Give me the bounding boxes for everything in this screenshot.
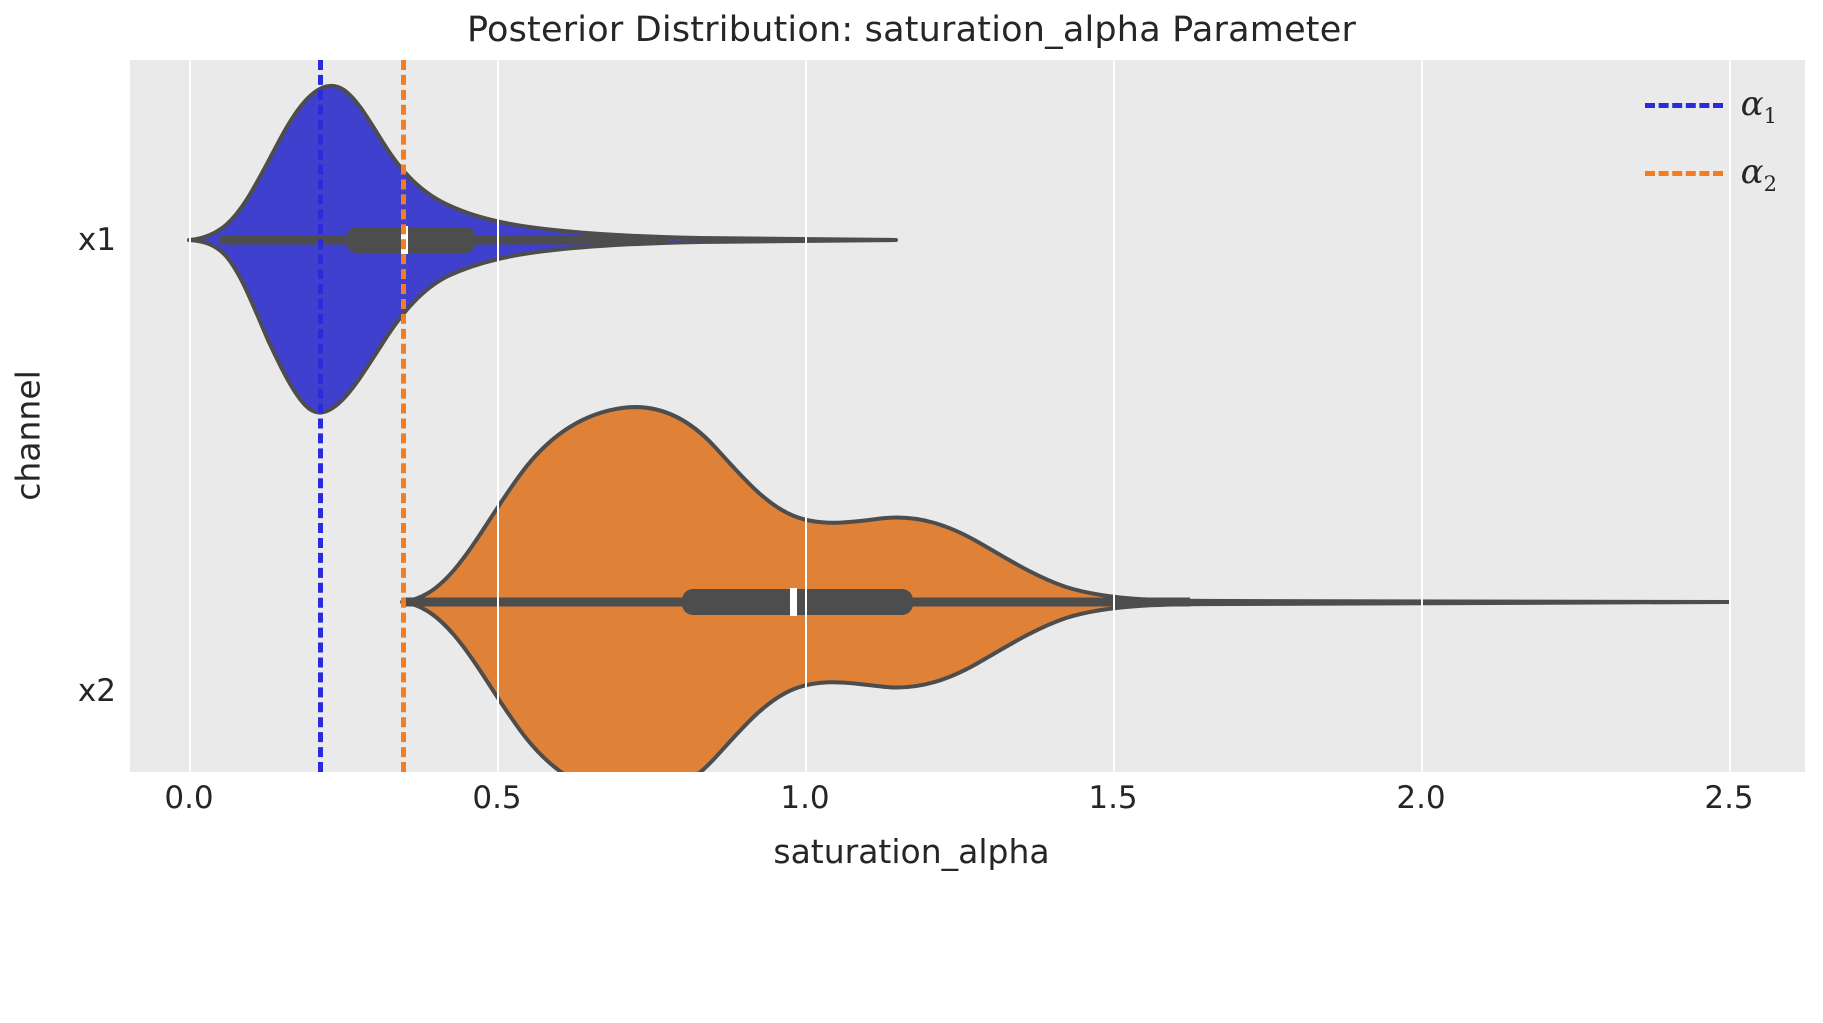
gridline-3 [1113,60,1115,772]
plot-area: α1 α2 [130,60,1805,772]
legend-item-alpha-2[interactable]: α2 [1645,152,1777,196]
legend-swatch-alpha-1 [1645,103,1723,108]
y-tick-label-x1: x1 [78,222,116,258]
y-tick-label-x2: x2 [78,673,116,709]
chart-title: Posterior Distribution: saturation_alpha… [0,10,1823,50]
x-axis-label: saturation_alpha [0,832,1823,871]
violin-x2-box [682,589,913,615]
x-tick-label-2: 1.0 [780,780,829,816]
violin-x1 [189,86,896,413]
y-axis-label: channel [9,226,48,646]
x-tick-label-3: 1.5 [1088,780,1137,816]
legend-swatch-alpha-2 [1645,171,1723,176]
gridline-4 [1421,60,1423,772]
x-tick-label-4: 2.0 [1396,780,1445,816]
legend: α1 α2 [1635,78,1787,202]
gridline-0 [189,60,191,772]
violin-plot-canvas [130,60,1805,772]
violin-x1-box [346,227,476,253]
legend-item-alpha-1[interactable]: α1 [1645,84,1777,128]
gridline-1 [497,60,499,772]
x-tick-label-1: 0.5 [472,780,521,816]
legend-label-alpha-1: α1 [1741,84,1777,128]
chart-figure: Posterior Distribution: saturation_alpha… [0,0,1823,1023]
violin-x2 [402,407,1729,772]
vline-alpha-2 [401,60,406,772]
gridline-2 [805,60,807,772]
violin-x2-body [402,407,1729,772]
x-tick-label-5: 2.5 [1704,780,1753,816]
vline-alpha-1 [318,60,323,772]
violin-x1-body [189,86,896,413]
legend-label-alpha-2: α2 [1741,152,1777,196]
x-tick-label-0: 0.0 [164,780,213,816]
violin-x2-median [790,588,797,616]
